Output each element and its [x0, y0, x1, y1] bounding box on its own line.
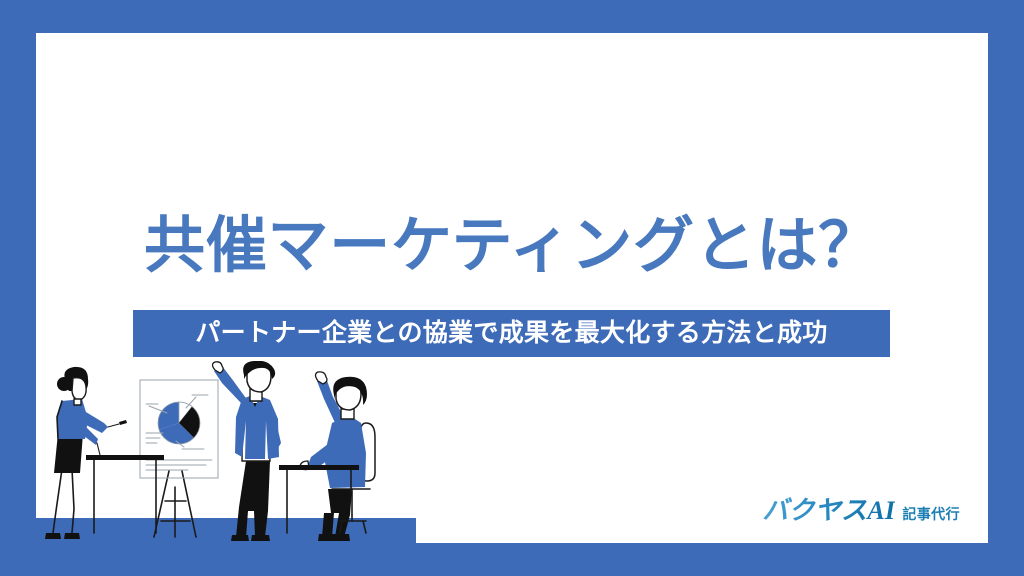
brand-logo-main: バクヤスAI	[762, 490, 895, 527]
business-team-illustration: .ln { fill:none; stroke:#1A1A1A; stroke-…	[36, 361, 416, 543]
white-content-card: .ln { fill:none; stroke:#1A1A1A; stroke-…	[36, 33, 988, 543]
pie-chart	[158, 402, 200, 444]
subtitle-text: パートナー企業との協業で成果を最大化する方法と成功	[195, 321, 827, 346]
brand-logo-sub: 記事代行	[902, 504, 960, 524]
woman-pointing-figure	[45, 367, 127, 539]
brand-logo: バクヤスAI 記事代行	[762, 490, 960, 527]
page-title: 共催マーケティングとは？	[36, 211, 988, 279]
man-presenting-figure	[213, 361, 282, 541]
seated-person-figure	[300, 372, 375, 541]
slide-canvas: .ln { fill:none; stroke:#1A1A1A; stroke-…	[0, 0, 1024, 576]
subtitle-band: パートナー企業との協業で成果を最大化する方法と成功	[133, 310, 890, 357]
